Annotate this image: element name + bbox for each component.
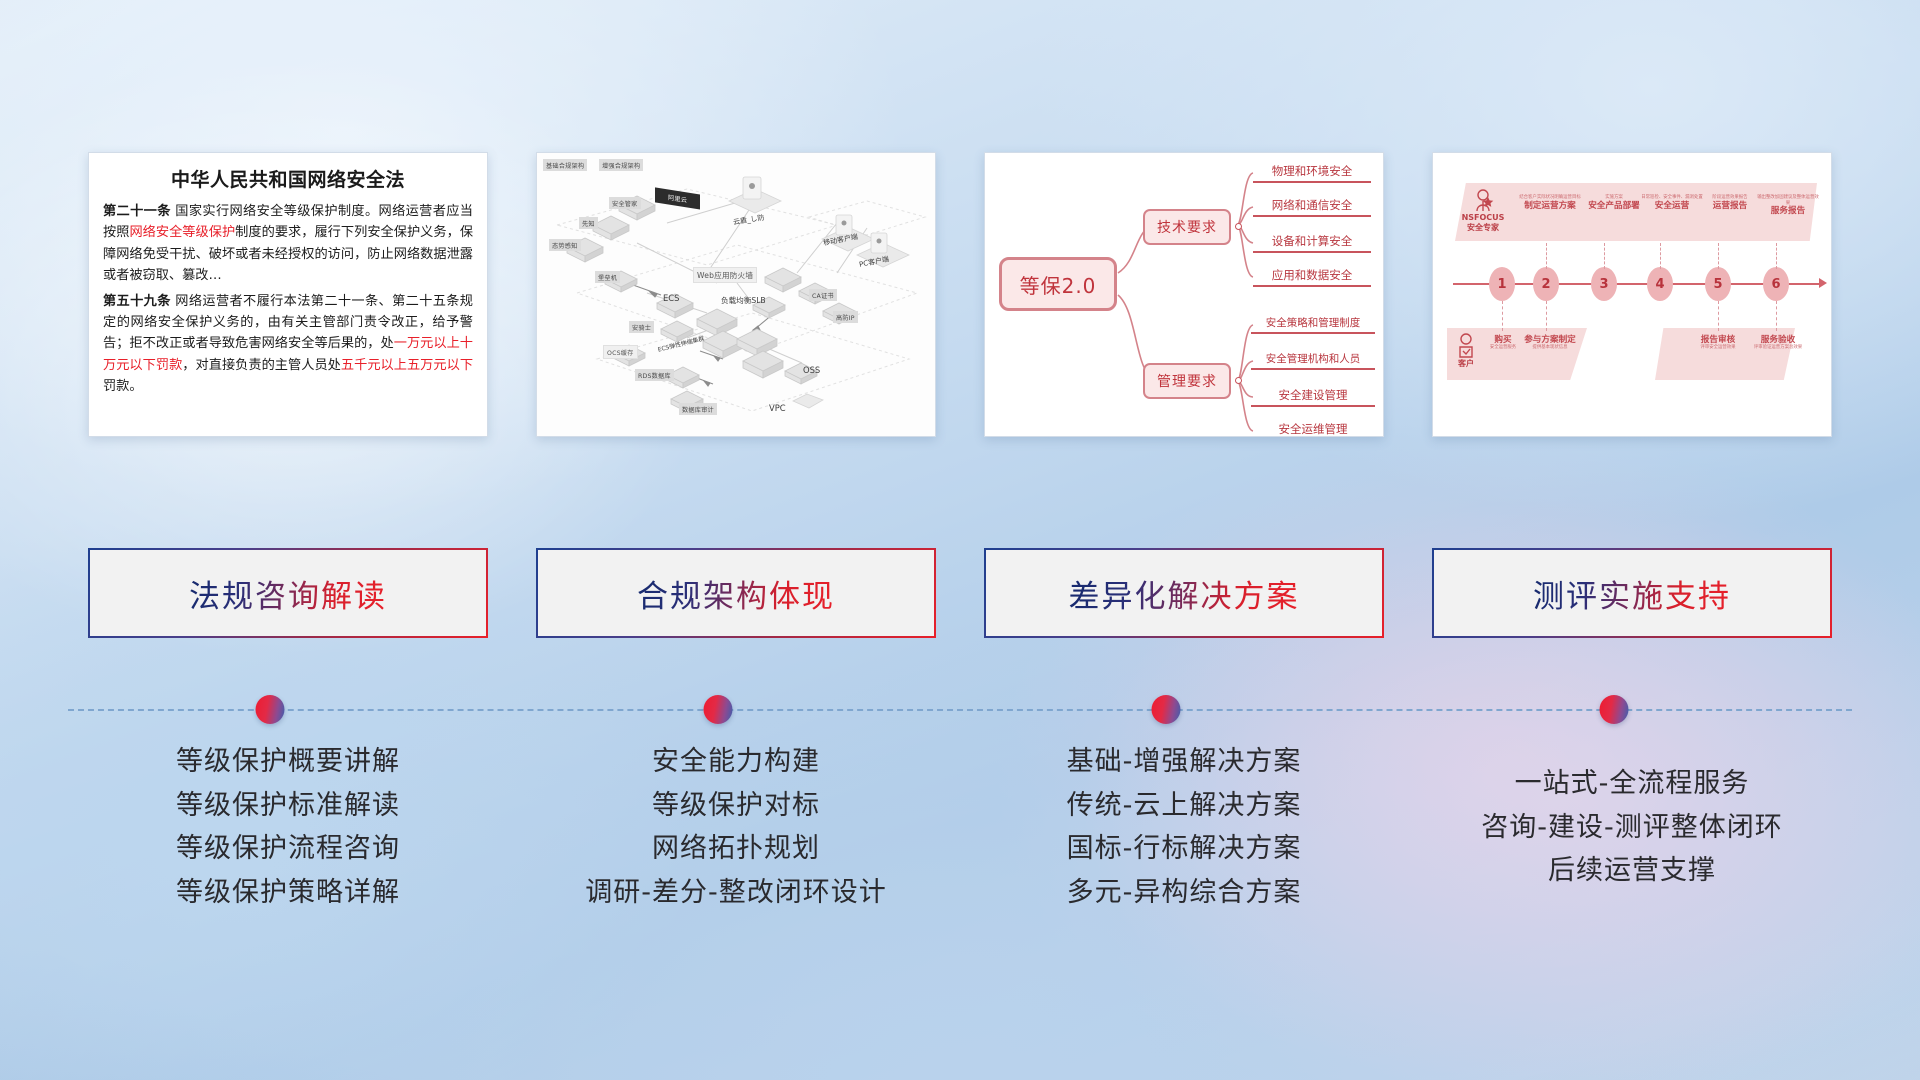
list-item: 调研-差分-整改闭环设计	[536, 871, 936, 915]
list-item: 后续运营支撑	[1432, 849, 1832, 893]
timeline-dot-2[interactable]	[704, 695, 733, 724]
nsfocus-customer-role: 客户	[1449, 359, 1483, 369]
arch-node-situational: 态势感知	[549, 239, 581, 251]
list-item: 等级保护概要讲解	[88, 740, 488, 784]
nsfocus-dash-6	[1776, 243, 1777, 269]
nsfocus-dash-b1	[1502, 301, 1503, 331]
nsfocus-top-step-4-sub: 日常巡检、安全事件、漏洞处置	[1641, 195, 1703, 201]
arch-node-oss: OSS	[803, 365, 820, 375]
list-item: 等级保护标准解读	[88, 784, 488, 828]
arch-node-anqishi: 安骑士	[629, 321, 654, 333]
list-item: 咨询-建设-测评整体闭环	[1432, 806, 1832, 850]
nsfocus-marker-2[interactable]: 2	[1533, 267, 1559, 301]
mindmap-leaf-m1: 安全管理机构和人员	[1251, 351, 1375, 370]
heading-box-3[interactable]: 差异化解决方案	[984, 548, 1384, 638]
nsfocus-diagram: NSFOCUS 安全专家 客户 结合客户实际状况明确运营目标 制定运营方案 实施…	[1433, 153, 1831, 436]
heading-box-1[interactable]: 法规咨询解读	[88, 548, 488, 638]
nsfocus-top-step-2-title: 制定运营方案	[1517, 201, 1583, 211]
mindmap-root[interactable]: 等保2.0	[999, 257, 1117, 311]
mindmap-hub-technical-icon[interactable]	[1235, 223, 1242, 230]
nsfocus-bottom-step-2: 参与方案制定 提供基本现状信息	[1519, 335, 1581, 351]
list-item: 一站式-全流程服务	[1432, 762, 1832, 806]
list-item: 网络拓扑规划	[536, 827, 936, 871]
heading-box-2[interactable]: 合规架构体现	[536, 548, 936, 638]
nsfocus-bottom-step-5: 报告审核 评审安全运营效果	[1689, 335, 1747, 351]
arch-node-waf: Web应用防火墙	[693, 267, 757, 283]
heading-box-4[interactable]: 测评实施支持	[1432, 548, 1832, 638]
nsfocus-top-step-3: 实施方案 安全产品部署	[1583, 195, 1645, 211]
mindmap-branch-technical[interactable]: 技术要求	[1143, 209, 1231, 245]
list-item: 等级保护对标	[536, 784, 936, 828]
arch-node-slb: 负载均衡SLB	[721, 295, 766, 306]
mindmap-leaf-t0: 物理和环境安全	[1253, 163, 1371, 183]
list-item: 传统-云上解决方案	[984, 784, 1384, 828]
nsfocus-marker-3[interactable]: 3	[1591, 267, 1617, 301]
arch-node-xianzhi: 先知	[579, 217, 598, 229]
mindmap-leaf-m3: 安全运维管理	[1251, 421, 1375, 437]
arch-node-rds: RDS数据库	[635, 369, 674, 381]
heading-label-3: 差异化解决方案	[1069, 571, 1300, 616]
arch-tab-base[interactable]: 基础合规架构	[543, 159, 587, 171]
arch-node-ecs: ECS	[663, 293, 679, 303]
mindmap-leaf-t2: 设备和计算安全	[1253, 233, 1371, 253]
nsfocus-dash-b6	[1776, 301, 1777, 331]
law-article-2: 第五十九条	[103, 294, 171, 309]
detail-column-3: 基础-增强解决方案 传统-云上解决方案 国标-行标解决方案 多元-异构综合方案	[984, 740, 1384, 915]
law-article-1: 第二十一条	[103, 204, 171, 219]
timeline-dashed-line	[68, 709, 1852, 711]
architecture-card[interactable]: 基础合规架构 增强合规架构 阿里云 态势感知 先知 安全管家 云盾_し防 Web…	[536, 152, 936, 437]
detail-column-1: 等级保护概要讲解 等级保护标准解读 等级保护流程咨询 等级保护策略详解	[88, 740, 488, 915]
nsfocus-expert-name: NSFOCUS	[1455, 213, 1511, 223]
heading-label-2: 合规架构体现	[637, 571, 835, 616]
nsfocus-top-step-5-title: 运营报告	[1701, 201, 1759, 211]
list-item: 基础-增强解决方案	[984, 740, 1384, 784]
law-card[interactable]: 中华人民共和国网络安全法 第二十一条 国家实行网络安全等级保护制度。网络运营者应…	[88, 152, 488, 437]
heading-label-4: 测评实施支持	[1533, 571, 1731, 616]
nsfocus-top-step-2-sub: 结合客户实际状况明确运营目标	[1517, 195, 1583, 201]
law-run-2-2: ，对直接负责的主管人员处	[182, 358, 341, 373]
nsfocus-bottom-step-6-title: 服务验收	[1747, 335, 1809, 345]
arch-node-db-audit: 数据库审计	[679, 403, 717, 415]
law-card-body: 中华人民共和国网络安全法 第二十一条 国家实行网络安全等级保护制度。网络运营者应…	[89, 153, 487, 409]
list-item: 多元-异构综合方案	[984, 871, 1384, 915]
nsfocus-dash-5	[1718, 243, 1719, 269]
nsfocus-marker-4[interactable]: 4	[1647, 267, 1673, 301]
nsfocus-dash-3	[1604, 243, 1605, 269]
nsfocus-top-step-4: 日常巡检、安全事件、漏洞处置 安全运营	[1641, 195, 1703, 211]
nsfocus-timeline-card[interactable]: NSFOCUS 安全专家 客户 结合客户实际状况明确运营目标 制定运营方案 实施…	[1432, 152, 1832, 437]
nsfocus-top-step-3-title: 安全产品部署	[1583, 201, 1645, 211]
nsfocus-marker-6[interactable]: 6	[1763, 267, 1789, 301]
detail-column-2: 安全能力构建 等级保护对标 网络拓扑规划 调研-差分-整改闭环设计	[536, 740, 936, 915]
timeline	[0, 690, 1920, 730]
list-item: 等级保护流程咨询	[88, 827, 488, 871]
nsfocus-dash-4	[1660, 243, 1661, 269]
nsfocus-dash-2	[1546, 243, 1547, 269]
arch-node-bastion: 堡垒机	[595, 271, 620, 283]
nsfocus-top-step-4-title: 安全运营	[1641, 201, 1703, 211]
nsfocus-bottom-step-1-sub: 安全运营服务	[1483, 345, 1523, 351]
mindmap-branch-management[interactable]: 管理要求	[1143, 363, 1231, 399]
heading-row: 法规咨询解读 合规架构体现 差异化解决方案 测评实施支持	[0, 548, 1920, 638]
nsfocus-expert-label: NSFOCUS 安全专家	[1455, 213, 1511, 233]
nsfocus-bottom-step-2-sub: 提供基本现状信息	[1519, 345, 1581, 351]
nsfocus-customer-label: 客户	[1449, 359, 1483, 369]
nsfocus-bottom-step-2-title: 参与方案制定	[1519, 335, 1581, 345]
nsfocus-top-step-6-sub: 输出整改加固建议及整体运营效果	[1757, 195, 1819, 206]
nsfocus-top-step-2: 结合客户实际状况明确运营目标 制定运营方案	[1517, 195, 1583, 211]
list-item: 国标-行标解决方案	[984, 827, 1384, 871]
thumbnail-row: 中华人民共和国网络安全法 第二十一条 国家实行网络安全等级保护制度。网络运营者应…	[0, 152, 1920, 437]
nsfocus-dash-b5	[1718, 301, 1719, 331]
nsfocus-bottom-step-1-title: 购买	[1483, 335, 1523, 345]
arch-node-anti-ddos: 高防IP	[833, 311, 858, 323]
list-item: 等级保护策略详解	[88, 871, 488, 915]
mindmap-diagram: 等保2.0 技术要求 物理和环境安全 网络和通信安全 设备和计算安全 应用和数据…	[985, 153, 1383, 436]
architecture-diagram: 基础合规架构 增强合规架构 阿里云 态势感知 先知 安全管家 云盾_し防 Web…	[537, 153, 935, 436]
law-run-2-4: 罚款。	[103, 379, 143, 394]
nsfocus-bottom-step-6-sub: 评审验证运营方案总效果	[1747, 345, 1809, 351]
timeline-dot-3[interactable]	[1152, 695, 1181, 724]
nsfocus-dash-b2	[1546, 301, 1547, 331]
law-run-2-3: 五千元以上五万元以下	[341, 358, 473, 373]
law-title: 中华人民共和国网络安全法	[103, 165, 473, 192]
law-run-1-1: 网络安全等级保护	[129, 225, 235, 240]
detail-columns: 等级保护概要讲解 等级保护标准解读 等级保护流程咨询 等级保护策略详解 安全能力…	[0, 740, 1920, 915]
arch-node-ca: CA证书	[809, 289, 837, 301]
slide-root: 中华人民共和国网络安全法 第二十一条 国家实行网络安全等级保护制度。网络运营者应…	[0, 0, 1920, 1080]
timeline-dot-4[interactable]	[1600, 695, 1629, 724]
mindmap-hub-management-icon[interactable]	[1235, 377, 1242, 384]
nsfocus-marker-1[interactable]: 1	[1489, 267, 1515, 301]
arch-node-security-butler: 安全管家	[609, 197, 641, 209]
nsfocus-top-step-6-title: 服务报告	[1757, 206, 1819, 216]
law-paragraph-2: 第五十九条 网络运营者不履行本法第二十一条、第二十五条规定的网络安全保护义务的，…	[103, 291, 473, 398]
arch-node-ocs: OCS缓存	[603, 345, 638, 359]
mindmap-leaf-t1: 网络和通信安全	[1253, 197, 1371, 217]
timeline-dot-1[interactable]	[256, 695, 285, 724]
nsfocus-bottom-step-5-title: 报告审核	[1689, 335, 1747, 345]
arch-node-vpc: VPC	[769, 403, 786, 413]
nsfocus-bottom-step-5-sub: 评审安全运营效果	[1689, 345, 1747, 351]
mindmap-leaf-m0: 安全策略和管理制度	[1251, 315, 1375, 334]
nsfocus-bottom-step-1: 购买 安全运营服务	[1483, 335, 1523, 351]
arch-tab-enhanced[interactable]: 增强合规架构	[599, 159, 643, 171]
nsfocus-expert-role: 安全专家	[1455, 223, 1511, 233]
law-paragraph-1: 第二十一条 国家实行网络安全等级保护制度。网络运营者应当按照网络安全等级保护制度…	[103, 201, 473, 287]
mindmap-card[interactable]: 等保2.0 技术要求 物理和环境安全 网络和通信安全 设备和计算安全 应用和数据…	[984, 152, 1384, 437]
detail-column-4: 一站式-全流程服务 咨询-建设-测评整体闭环 后续运营支撑	[1432, 740, 1832, 915]
nsfocus-axis-arrow-icon	[1819, 278, 1827, 288]
mindmap-leaf-m2: 安全建设管理	[1251, 387, 1375, 407]
nsfocus-marker-5[interactable]: 5	[1705, 267, 1731, 301]
nsfocus-top-step-6: 输出整改加固建议及整体运营效果 服务报告	[1757, 195, 1819, 216]
nsfocus-bottom-step-6: 服务验收 评审验证运营方案总效果	[1747, 335, 1809, 351]
heading-label-1: 法规咨询解读	[189, 571, 387, 616]
nsfocus-top-step-5: 阶段运营效果报告 运营报告	[1701, 195, 1759, 211]
list-item: 安全能力构建	[536, 740, 936, 784]
mindmap-leaf-t3: 应用和数据安全	[1253, 267, 1371, 287]
